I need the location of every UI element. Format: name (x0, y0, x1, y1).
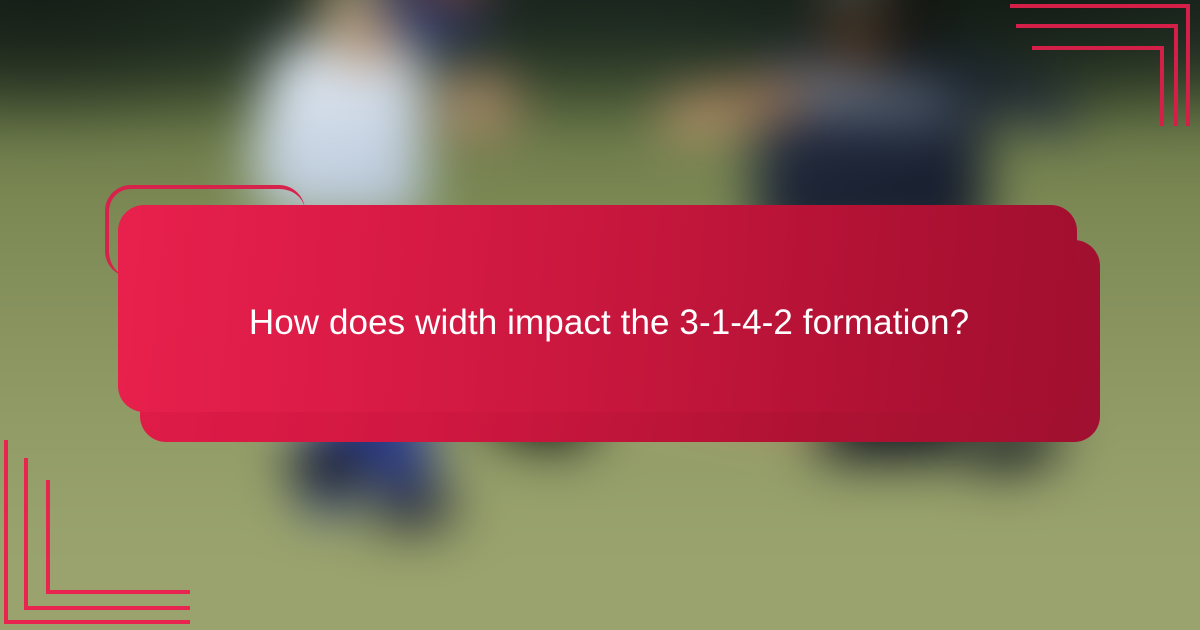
question-card-content: How does width impact the 3-1-4-2 format… (118, 205, 1100, 442)
screenshot-canvas: How does width impact the 3-1-4-2 format… (0, 0, 1200, 630)
question-title: How does width impact the 3-1-4-2 format… (249, 297, 969, 350)
